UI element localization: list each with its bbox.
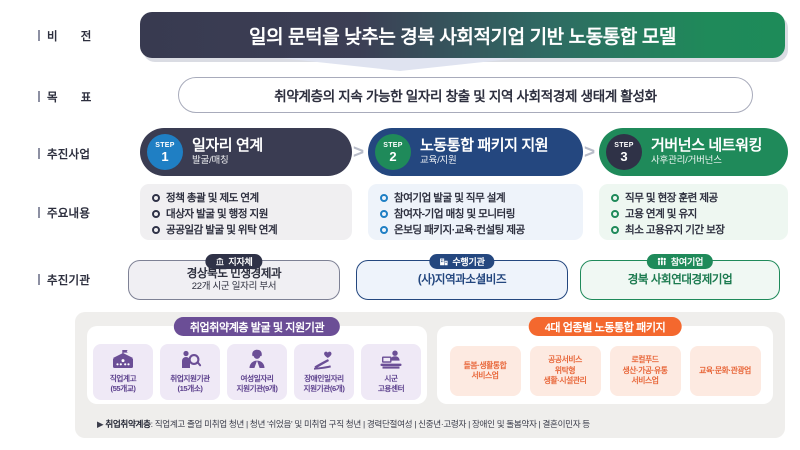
content-bullet: 정책 총괄 및 제도 연계 xyxy=(152,190,352,206)
step-badge-number: 3 xyxy=(620,150,627,163)
bullet-dot-icon xyxy=(152,210,160,218)
support-institutions-tiles: 직업계고 (55개교) 취업지원기관 (15개소) xyxy=(87,344,427,400)
agency-card-operator: 수행기관 (사)지역과소셜비즈 xyxy=(356,260,568,300)
agency-tag-text: 지자체 xyxy=(228,255,252,268)
agencies-row: 지자체 경상북도 민생경제과 22개 시군 일자리 부서 수행기관 (사)지역과… xyxy=(128,254,788,300)
tile-label: 여성일자리 지원기관(9개) xyxy=(236,374,277,393)
support-institutions-title-text: 취업취약계층 발굴 및 지원기관 xyxy=(190,319,324,335)
row-label-vision-text: 비 전 xyxy=(47,31,101,43)
content-bullet-text: 참여기업 발굴 및 직무 설계 xyxy=(394,190,505,206)
content-card-1: 정책 총괄 및 제도 연계 대상자 발굴 및 행정 지원 공공일감 발굴 및 위… xyxy=(140,184,352,240)
care-hand-icon xyxy=(311,348,337,372)
industry-tile-label: 공공서비스 위탁형 생활·시설관리 xyxy=(544,355,587,387)
woman-icon xyxy=(244,348,270,372)
row-label-goal: 목 표 xyxy=(38,89,130,105)
industry-tile-line3: 서비스업 xyxy=(622,376,667,387)
step-subtitle: 사후관리/거버넌스 xyxy=(651,154,762,167)
step-text-3: 거버넌스 네트워킹 사후관리/거버넌스 xyxy=(651,137,762,167)
agency-tag-participating: 참여기업 xyxy=(647,254,713,269)
content-bullet: 공공일감 발굴 및 위탁 연계 xyxy=(152,222,352,238)
footnote-label: 취업취약계층 xyxy=(105,419,150,429)
support-institutions-title: 취업취약계층 발굴 및 지원기관 xyxy=(174,317,340,336)
step-badge-2: STEP 2 xyxy=(375,134,411,170)
industry-package-title-text: 4대 업종별 노동통합 패키지 xyxy=(545,319,666,335)
step-title: 거버넌스 네트워킹 xyxy=(651,137,762,154)
tile-label-line1: 직업계고 xyxy=(110,374,136,384)
content-card-3: 직무 및 현장 훈련 제공 고용 연계 및 유지 최소 고용유지 기간 보장 xyxy=(599,184,788,240)
step-badge-number: 2 xyxy=(389,150,396,163)
infographic-page: 비 전 목 표 추진사업 주요내용 추진기관 일의 문턱을 낮추는 경북 사회적… xyxy=(0,0,800,450)
industry-package-panel: 4대 업종별 노동통합 패키지 돌봄·생활통합 서비스업 공공서비스 위탁형 생… xyxy=(437,326,773,404)
agency-main-text: 경북 사회연대경제기업 xyxy=(628,273,733,287)
agency-tag-text: 참여기업 xyxy=(671,255,703,268)
row-label-project-text: 추진사업 xyxy=(47,149,90,161)
agency-card-local-gov: 지자체 경상북도 민생경제과 22개 시군 일자리 부서 xyxy=(128,260,340,300)
industry-tile-line1: 돌봄·생활통합 xyxy=(464,361,507,372)
step-card-2[interactable]: STEP 2 노동통합 패키지 지원 교육/지원 xyxy=(368,128,583,176)
label-bar xyxy=(38,207,40,218)
step-title: 노동통합 패키지 지원 xyxy=(420,137,548,154)
content-bullet-text: 직무 및 현장 훈련 제공 xyxy=(625,190,718,206)
agency-main-text: 경상북도 민생경제과 xyxy=(187,267,281,281)
industry-tile-care[interactable]: 돌봄·생활통합 서비스업 xyxy=(450,346,521,396)
industry-tile-label: 로컬푸드 생산·가공·유통 서비스업 xyxy=(622,355,667,387)
step-badge-3: STEP 3 xyxy=(606,134,642,170)
bullet-dot-icon xyxy=(380,194,388,202)
bullet-dot-icon xyxy=(152,194,160,202)
industry-tile-line1: 교육·문화·관광업 xyxy=(699,366,751,377)
content-bullet: 최소 고용유지 기간 보장 xyxy=(611,222,788,238)
industry-tile-line2: 서비스업 xyxy=(464,371,507,382)
industry-tile-education-culture[interactable]: 교육·문화·관광업 xyxy=(690,346,761,396)
step-badge-number: 1 xyxy=(161,150,168,163)
industry-tile-label: 교육·문화·관광업 xyxy=(699,366,751,377)
industry-tile-line1: 로컬푸드 xyxy=(622,355,667,366)
tile-vocational-school[interactable]: 직업계고 (55개교) xyxy=(93,344,153,400)
label-bar xyxy=(38,30,40,41)
label-bar xyxy=(38,148,40,159)
people-icon xyxy=(657,257,667,266)
content-bullet: 참여자-기업 매칭 및 모니터링 xyxy=(380,206,583,222)
row-label-project: 추진사업 xyxy=(38,146,130,162)
goal-box: 취약계층의 지속 가능한 일자리 창출 및 지역 사회적경제 생태계 활성화 xyxy=(178,77,753,113)
agency-sub-text: 22개 시군 일자리 부서 xyxy=(192,281,277,293)
label-bar xyxy=(38,274,40,285)
tile-label: 시군 고용센터 xyxy=(378,374,404,393)
industry-tile-local-food[interactable]: 로컬푸드 생산·가공·유통 서비스업 xyxy=(610,346,681,396)
row-label-content: 주요내용 xyxy=(38,205,130,221)
step-badge-1: STEP 1 xyxy=(147,134,183,170)
industry-tile-label: 돌봄·생활통합 서비스업 xyxy=(464,361,507,382)
down-arrow-icon xyxy=(280,58,520,71)
step-subtitle: 교육/지원 xyxy=(420,154,548,167)
tile-women-jobs[interactable]: 여성일자리 지원기관(9개) xyxy=(227,344,287,400)
industry-tile-line2: 위탁형 xyxy=(544,366,587,377)
bank-icon xyxy=(215,257,224,266)
bullet-dot-icon xyxy=(611,210,619,218)
footnote-text: : 직업계고 졸업 미취업 청년 | 청년 '쉬었음' 및 미취업 구직 청년 … xyxy=(151,419,590,429)
content-bullet: 참여기업 발굴 및 직무 설계 xyxy=(380,190,583,206)
building-icon xyxy=(439,257,448,266)
agency-tag-local-gov: 지자체 xyxy=(205,254,262,269)
agency-tag-text: 수행기관 xyxy=(452,255,484,268)
label-bar xyxy=(38,91,40,102)
agency-tag-operator: 수행기관 xyxy=(429,254,494,269)
content-bullet-text: 대상자 발굴 및 행정 지원 xyxy=(166,206,268,222)
tile-label-line1: 여성일자리 xyxy=(236,374,277,384)
chevron-right-icon-1: > xyxy=(353,142,364,164)
step-card-1[interactable]: STEP 1 일자리 연계 발굴/매칭 xyxy=(140,128,352,176)
content-card-2: 참여기업 발굴 및 직무 설계 참여자-기업 매칭 및 모니터링 온보딩 패키지… xyxy=(368,184,583,240)
industry-tile-line3: 생활·시설관리 xyxy=(544,376,587,387)
agency-main-text: (사)지역과소셜비즈 xyxy=(418,273,506,287)
industry-tile-line2: 생산·가공·유통 xyxy=(622,366,667,377)
content-bullet: 고용 연계 및 유지 xyxy=(611,206,788,222)
tile-label-line2: 지원기관(9개) xyxy=(236,384,277,394)
content-bullet: 대상자 발굴 및 행정 지원 xyxy=(152,206,352,222)
tile-label-line2: (55개교) xyxy=(110,384,136,394)
counter-desk-icon xyxy=(378,348,404,372)
industry-package-title: 4대 업종별 노동통합 패키지 xyxy=(529,317,682,336)
content-bullet-text: 참여자-기업 매칭 및 모니터링 xyxy=(394,206,515,222)
industry-package-tiles: 돌봄·생활통합 서비스업 공공서비스 위탁형 생활·시설관리 로컬푸드 생산·가… xyxy=(437,346,773,396)
support-institutions-panel: 취업취약계층 발굴 및 지원기관 직업계고 (55개교) xyxy=(87,326,427,404)
bullet-dot-icon xyxy=(611,226,619,234)
agency-card-participating: 참여기업 경북 사회연대경제기업 xyxy=(580,260,780,300)
row-label-goal-text: 목 표 xyxy=(47,92,101,104)
step-text-2: 노동통합 패키지 지원 교육/지원 xyxy=(420,137,548,167)
tile-label-line2: 고용센터 xyxy=(378,384,404,394)
vision-banner-wrap: 일의 문턱을 낮추는 경북 사회적기업 기반 노동통합 모델 xyxy=(140,12,785,58)
row-label-agency: 추진기관 xyxy=(38,272,130,288)
job-search-icon xyxy=(177,348,203,372)
tile-employment-support[interactable]: 취업지원기관 (15개소) xyxy=(160,344,220,400)
steps-row: STEP 1 일자리 연계 발굴/매칭 > STEP 2 노동통합 패키지 지원… xyxy=(140,128,788,176)
step-subtitle: 발굴/매칭 xyxy=(192,154,263,167)
bottom-panel: 취업취약계층 발굴 및 지원기관 직업계고 (55개교) xyxy=(75,312,785,438)
content-bullet: 직무 및 현장 훈련 제공 xyxy=(611,190,788,206)
content-bullet: 온보딩 패키지·교육·컨설팅 제공 xyxy=(380,222,583,238)
step-text-1: 일자리 연계 발굴/매칭 xyxy=(192,137,263,167)
tile-employment-center[interactable]: 시군 고용센터 xyxy=(361,344,421,400)
chevron-right-icon-2: > xyxy=(584,142,595,164)
vision-text: 일의 문턱을 낮추는 경북 사회적기업 기반 노동통합 모델 xyxy=(249,22,676,49)
industry-tile-line1: 공공서비스 xyxy=(544,355,587,366)
tile-label-line2: (15개소) xyxy=(170,384,210,394)
content-bullet-text: 온보딩 패키지·교육·컨설팅 제공 xyxy=(394,222,525,238)
vision-banner: 일의 문턱을 낮추는 경북 사회적기업 기반 노동통합 모델 xyxy=(140,12,785,58)
content-bullet-text: 공공일감 발굴 및 위탁 연계 xyxy=(166,222,277,238)
step-title: 일자리 연계 xyxy=(192,137,263,154)
tile-label-line1: 취업지원기관 xyxy=(170,374,210,384)
tile-label-line1: 시군 xyxy=(378,374,404,384)
tile-disabled-jobs[interactable]: 장애인일자리 지원기관(6개) xyxy=(294,344,354,400)
tile-label-line2: 지원기관(6개) xyxy=(303,384,344,394)
industry-tile-public-service[interactable]: 공공서비스 위탁형 생활·시설관리 xyxy=(530,346,601,396)
footnote-marker-icon: ▶ xyxy=(97,419,103,429)
step-card-3[interactable]: STEP 3 거버넌스 네트워킹 사후관리/거버넌스 xyxy=(599,128,788,176)
tile-label: 장애인일자리 지원기관(6개) xyxy=(303,374,344,393)
bullet-dot-icon xyxy=(380,210,388,218)
school-icon xyxy=(110,348,136,372)
goal-text: 취약계층의 지속 가능한 일자리 창출 및 지역 사회적경제 생태계 활성화 xyxy=(274,85,657,105)
tile-label: 직업계고 (55개교) xyxy=(110,374,136,393)
tile-label-line1: 장애인일자리 xyxy=(303,374,344,384)
row-label-agency-text: 추진기관 xyxy=(47,275,90,287)
content-bullet-text: 최소 고용유지 기간 보장 xyxy=(625,222,725,238)
tile-label: 취업지원기관 (15개소) xyxy=(170,374,210,393)
content-bullet-text: 고용 연계 및 유지 xyxy=(625,206,697,222)
content-bullet-text: 정책 총괄 및 제도 연계 xyxy=(166,190,259,206)
bullet-dot-icon xyxy=(611,194,619,202)
row-label-content-text: 주요내용 xyxy=(47,208,90,220)
row-label-vision: 비 전 xyxy=(38,28,130,44)
content-cards-row: 정책 총괄 및 제도 연계 대상자 발굴 및 행정 지원 공공일감 발굴 및 위… xyxy=(140,184,788,240)
bullet-dot-icon xyxy=(380,226,388,234)
bullet-dot-icon xyxy=(152,226,160,234)
footnote: ▶ 취업취약계층: 직업계고 졸업 미취업 청년 | 청년 '쉬었음' 및 미취… xyxy=(97,418,590,430)
